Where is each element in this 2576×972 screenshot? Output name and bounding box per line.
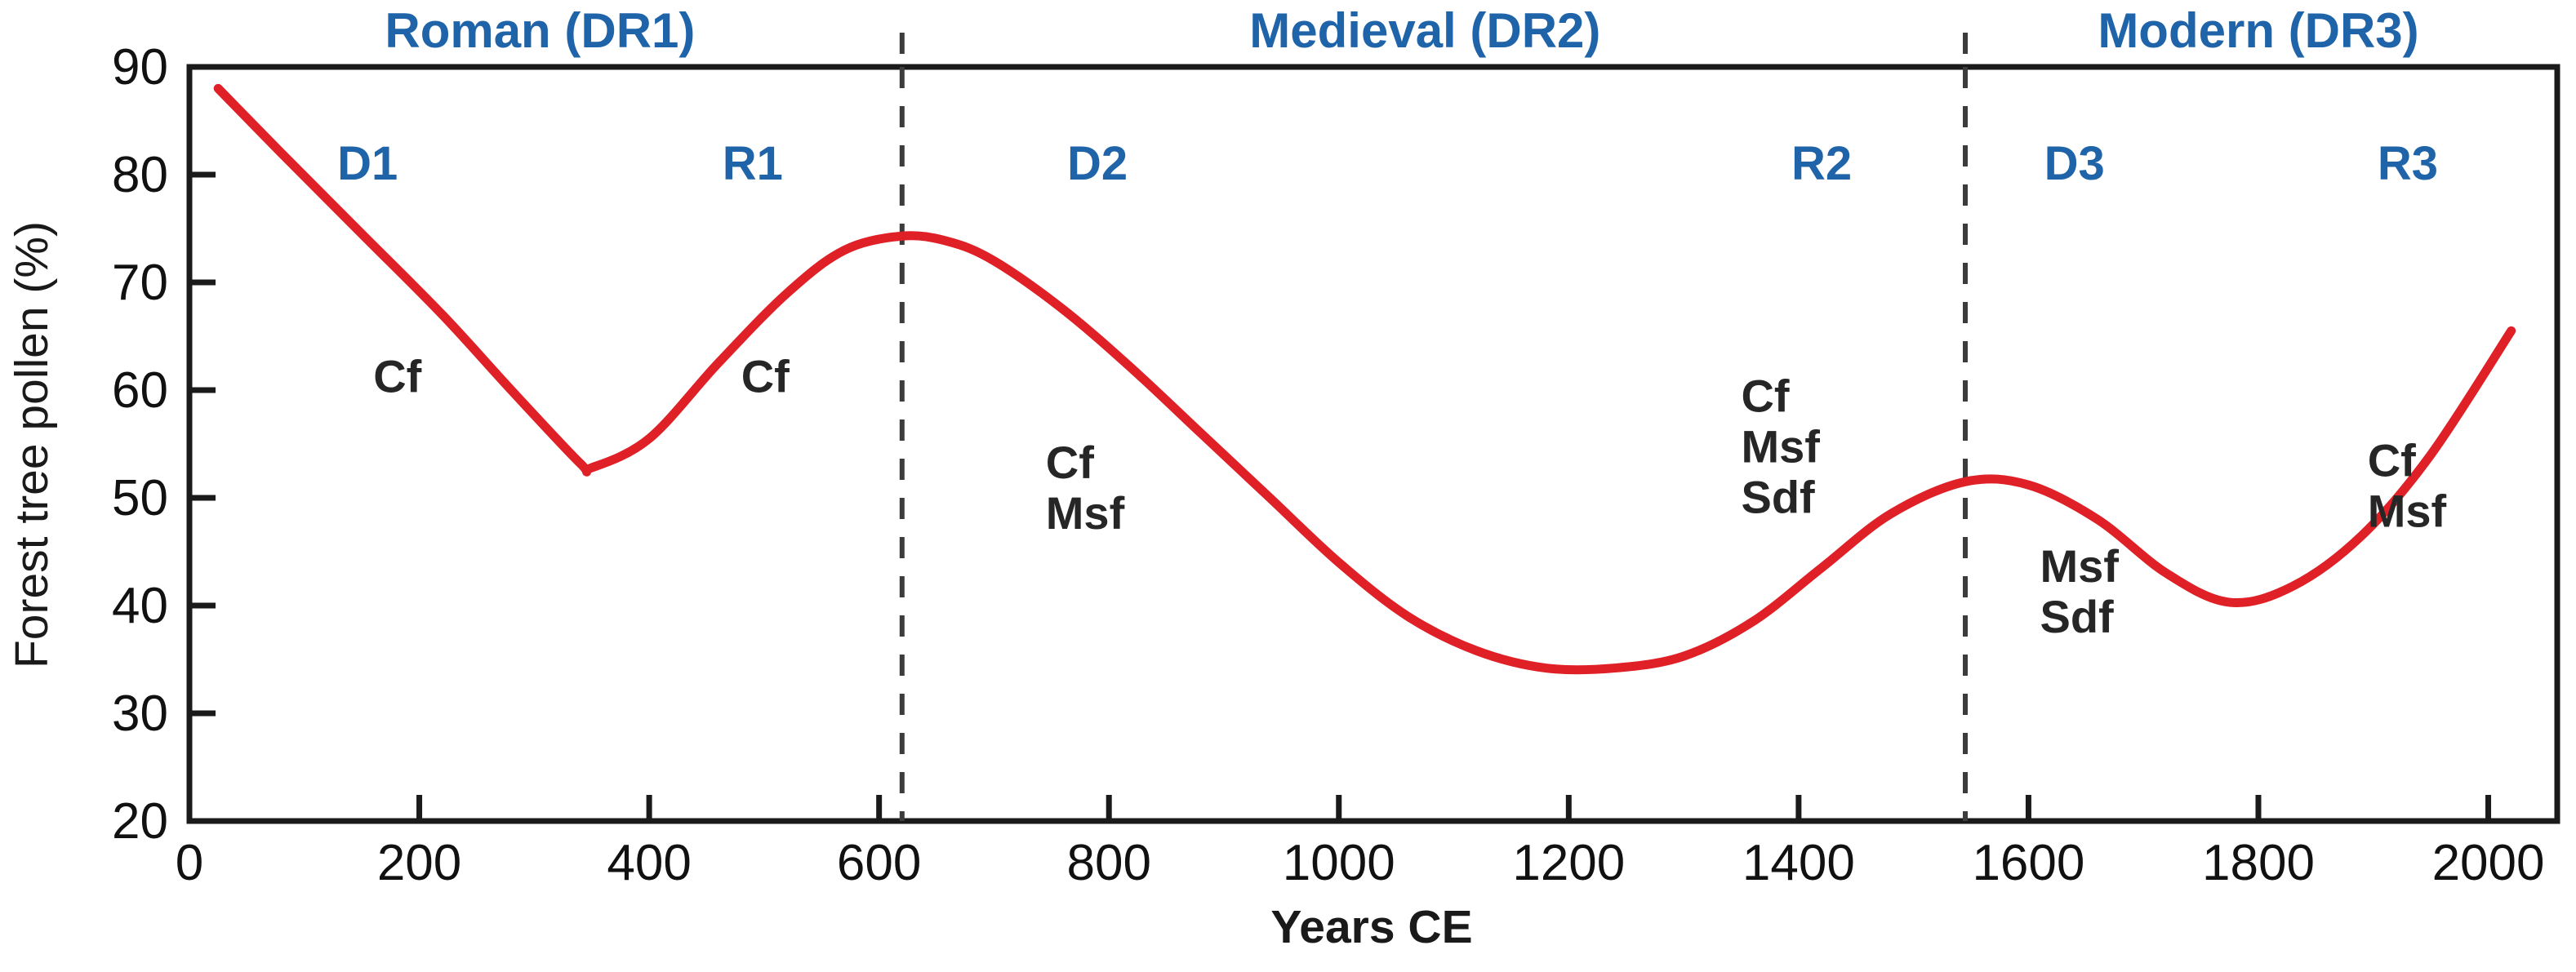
y-axis-title: Forest tree pollen (%) bbox=[6, 221, 58, 668]
period-label-dr1: Roman (DR1) bbox=[385, 3, 695, 58]
y-tick-label-30: 30 bbox=[112, 686, 168, 742]
ann-d3-msf-sdf: MsfSdf bbox=[2040, 540, 2120, 642]
y-tick-label-60: 60 bbox=[112, 362, 168, 419]
phase-label-d3: D3 bbox=[2044, 137, 2105, 190]
phase-label-r1: R1 bbox=[723, 137, 783, 190]
phase-label-d1: D1 bbox=[337, 137, 398, 190]
y-tick-label-20: 20 bbox=[112, 793, 168, 850]
pollen-time-series-chart: Roman (DR1)Medieval (DR2)Modern (DR3) D1… bbox=[0, 0, 2576, 972]
x-tick-label-1200: 1200 bbox=[1512, 835, 1625, 891]
x-tick-label-400: 400 bbox=[607, 835, 691, 891]
ann-d2-cf-msf-line-0: Cf bbox=[1046, 437, 1094, 488]
x-tick-label-200: 200 bbox=[377, 835, 461, 891]
y-tick-label-50: 50 bbox=[112, 470, 168, 526]
y-tick-label-40: 40 bbox=[112, 578, 168, 634]
ann-r3-cf-msf-line-0: Cf bbox=[2368, 435, 2416, 486]
y-tick-label-90: 90 bbox=[112, 39, 168, 95]
x-tick-label-1600: 1600 bbox=[1972, 835, 2084, 891]
x-tick-label-1400: 1400 bbox=[1742, 835, 1855, 891]
x-tick-label-1800: 1800 bbox=[2202, 835, 2315, 891]
ann-d1-cf-line-0: Cf bbox=[373, 351, 421, 402]
period-header-group: Roman (DR1)Medieval (DR2)Modern (DR3) bbox=[385, 3, 2418, 58]
x-tick-label-800: 800 bbox=[1066, 835, 1150, 891]
ann-r2-cf-msf-sdf-line-0: Cf bbox=[1741, 370, 1789, 421]
period-label-dr3: Modern (DR3) bbox=[2098, 3, 2418, 58]
phase-label-d2: D2 bbox=[1067, 137, 1128, 190]
ann-d2-cf-msf-line-1: Msf bbox=[1046, 487, 1125, 539]
ann-d3-msf-sdf-line-0: Msf bbox=[2040, 540, 2120, 592]
ann-d3-msf-sdf-line-1: Sdf bbox=[2040, 591, 2115, 642]
figure-root: Roman (DR1)Medieval (DR2)Modern (DR3) D1… bbox=[0, 0, 2576, 972]
ann-r2-cf-msf-sdf-line-2: Sdf bbox=[1741, 471, 1815, 522]
ann-r1-cf-line-0: Cf bbox=[741, 351, 790, 402]
x-tick-label-0: 0 bbox=[176, 835, 203, 891]
ann-r3-cf-msf-line-1: Msf bbox=[2368, 486, 2447, 537]
x-tick-label-600: 600 bbox=[837, 835, 921, 891]
phase-label-r2: R2 bbox=[1791, 137, 1852, 190]
phase-label-r3: R3 bbox=[2378, 137, 2438, 190]
x-axis-title: Years CE bbox=[1270, 901, 1472, 953]
ann-r1-cf: Cf bbox=[741, 351, 790, 402]
period-label-dr2: Medieval (DR2) bbox=[1249, 3, 1600, 58]
x-tick-label-2000: 2000 bbox=[2432, 835, 2545, 891]
x-tick-label-1000: 1000 bbox=[1283, 835, 1395, 891]
ann-d1-cf: Cf bbox=[373, 351, 421, 402]
ann-r2-cf-msf-sdf-line-1: Msf bbox=[1741, 420, 1820, 472]
y-tick-label-80: 80 bbox=[112, 147, 168, 203]
y-tick-label-70: 70 bbox=[112, 255, 168, 311]
